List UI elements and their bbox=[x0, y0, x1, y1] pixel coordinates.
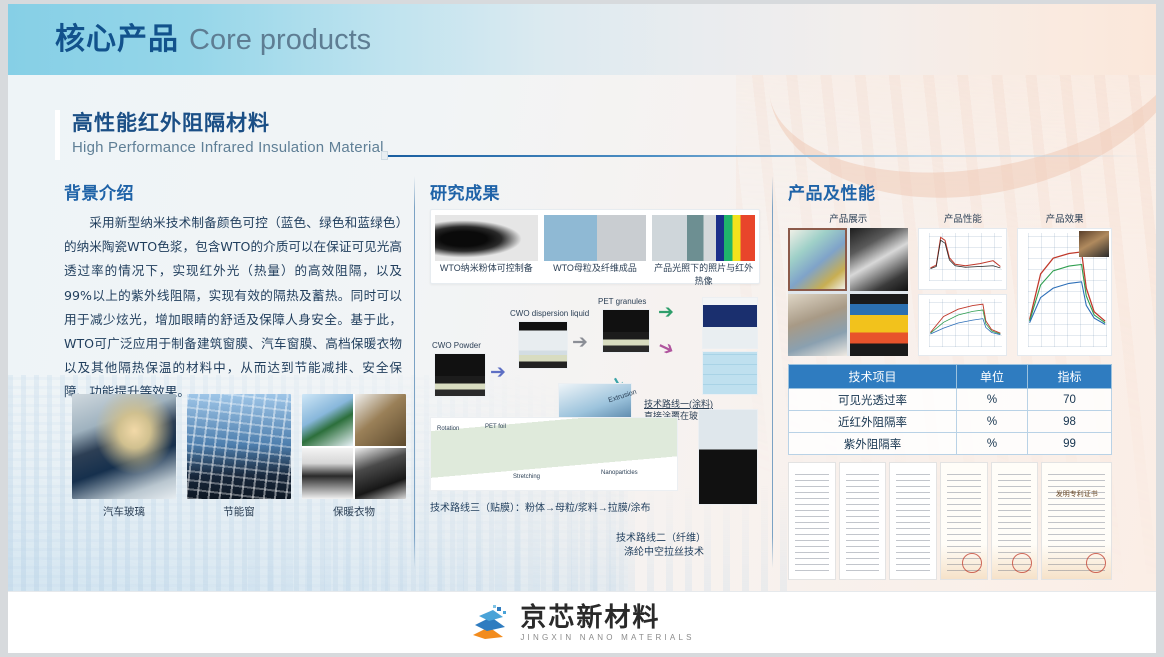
table-cell-unit: % bbox=[956, 411, 1027, 433]
table-header-row: 技术项目 单位 指标 bbox=[789, 365, 1112, 389]
certificate-seal-icon bbox=[1086, 553, 1106, 573]
company-name-cn: 京芯新材料 bbox=[520, 604, 694, 630]
gallery-caption: 节能窗 bbox=[187, 504, 291, 519]
section-title-cn: 高性能红外阻隔材料 bbox=[72, 107, 270, 137]
table-cell-value: 99 bbox=[1028, 433, 1112, 455]
research-photo-caption: WTO纳米粉体可控制备 bbox=[435, 261, 538, 274]
table-row: 可见光透过率 % 70 bbox=[789, 389, 1112, 411]
gallery-item: 汽车玻璃 bbox=[72, 394, 176, 519]
photo-jacket bbox=[355, 394, 406, 446]
slide-root: 核心产品Core products 高性能红外阻隔材料 High Perform… bbox=[8, 4, 1156, 653]
table-row: 近红外阻隔率 % 98 bbox=[789, 411, 1112, 433]
column-research-results: 研究成果 WTO纳米粉体可控制备 WTO母粒及纤维成品 产品光照下的照片与红外热… bbox=[430, 179, 760, 211]
subsection-title-performance: 产品性能 bbox=[918, 211, 1007, 225]
photo-gloves bbox=[355, 448, 406, 500]
company-name-en: JINGXIN NANO MATERIALS bbox=[520, 633, 694, 642]
chart-temperature-curve bbox=[918, 294, 1007, 356]
table-cell-value: 70 bbox=[1028, 389, 1112, 411]
subsection-title-effect: 产品效果 bbox=[1017, 211, 1112, 225]
photo-pet-granules bbox=[602, 309, 650, 353]
photo-coated-glass-tiles bbox=[702, 351, 758, 395]
photo-cwo-powder bbox=[434, 353, 486, 397]
flow-label-dispersion: CWO dispersion liquid bbox=[510, 309, 589, 318]
table-header-value: 指标 bbox=[1028, 365, 1112, 389]
certificate-patent bbox=[991, 462, 1039, 580]
route2-label-line1: 技术路线二（纤维） bbox=[616, 529, 706, 544]
photo-automotive-glass bbox=[72, 394, 176, 499]
product-subsections: 产品展示 产品性能 bbox=[788, 211, 1112, 356]
gallery-item: 保暖衣物 bbox=[302, 394, 406, 519]
photo-test-setup bbox=[788, 294, 847, 357]
flow-label-rotation: Rotation bbox=[437, 426, 459, 432]
table-cell-item: 可见光透过率 bbox=[789, 389, 957, 411]
table-row: 紫外阻隔率 % 99 bbox=[789, 433, 1112, 455]
photo-thermal-camera bbox=[850, 294, 909, 357]
flow-arrow-green: ➔ bbox=[658, 303, 674, 322]
flow-label-cwo-powder: CWO Powder bbox=[432, 341, 481, 350]
table-cell-item: 近红外阻隔率 bbox=[789, 411, 957, 433]
certificate-document bbox=[889, 462, 937, 580]
company-logo-icon bbox=[469, 605, 511, 641]
route3-block: Rotation PET foil Stretching Nanoparticl… bbox=[430, 417, 698, 509]
route2-label-line2: 涤纶中空拉丝技术 bbox=[624, 543, 704, 558]
research-photo-row: WTO纳米粉体可控制备 WTO母粒及纤维成品 产品光照下的照片与红外热像 bbox=[435, 215, 755, 287]
research-photo-caption: 产品光照下的照片与红外热像 bbox=[652, 261, 755, 287]
table-header-unit: 单位 bbox=[956, 365, 1027, 389]
flow-label-stretching: Stretching bbox=[513, 474, 540, 480]
research-photo-card: WTO纳米粉体可控制备 WTO母粒及纤维成品 产品光照下的照片与红外热像 bbox=[430, 209, 760, 284]
footer: 京芯新材料 JINGXIN NANO MATERIALS bbox=[8, 591, 1156, 653]
photo-hollow-fiber bbox=[698, 409, 758, 505]
section-rule-cap bbox=[381, 151, 388, 160]
table-cell-item: 紫外阻隔率 bbox=[789, 433, 957, 455]
photo-effect-inset bbox=[1079, 231, 1109, 257]
chart-product-effect bbox=[1017, 228, 1112, 356]
photo-powder-bags bbox=[850, 228, 909, 291]
page-title-cn: 核心产品 bbox=[55, 23, 179, 56]
photo-thermal-clothing bbox=[302, 394, 406, 499]
certificate-patent: 发明专利证书 bbox=[1041, 462, 1112, 580]
table-cell-unit: % bbox=[956, 389, 1027, 411]
left-column-heading: 背景介绍 bbox=[64, 179, 402, 204]
photo-cwo-dispersion bbox=[518, 321, 568, 369]
table-header-item: 技术项目 bbox=[789, 365, 957, 389]
company-name-block: 京芯新材料 JINGXIN NANO MATERIALS bbox=[520, 604, 694, 642]
background-paragraph: 采用新型纳米技术制备颜色可控（蓝色、绿色和蓝绿色）的纳米陶瓷WTO色浆，包含WT… bbox=[64, 211, 402, 404]
column-divider-left bbox=[414, 176, 415, 568]
photo-film-stretching-line: Rotation PET foil Stretching Nanoparticl… bbox=[430, 417, 678, 491]
subsection-title-display: 产品展示 bbox=[788, 211, 908, 225]
product-display-block: 产品展示 bbox=[788, 211, 908, 356]
photo-leg-warmers bbox=[302, 448, 353, 500]
flow-label-pet-granules: PET granules bbox=[598, 297, 646, 306]
column-product-performance: 产品及性能 产品展示 产品性能 bbox=[788, 179, 1112, 580]
photo-skier bbox=[302, 394, 353, 446]
photo-wto-nano-powder bbox=[435, 215, 538, 261]
certificate-document bbox=[839, 462, 887, 580]
certificate-document bbox=[788, 462, 836, 580]
certificate-patent bbox=[940, 462, 988, 580]
research-photo-item: WTO纳米粉体可控制备 bbox=[435, 215, 538, 287]
product-effect-block: 产品效果 bbox=[1017, 211, 1112, 356]
photo-product-display bbox=[788, 228, 908, 356]
section-rule bbox=[388, 155, 1148, 157]
certificate-text-lines bbox=[896, 473, 930, 571]
certificate-text-lines bbox=[795, 473, 829, 571]
middle-column-heading: 研究成果 bbox=[430, 179, 760, 204]
route3-label: 技术路线三（贴膜）：粉体→母粒/浆料→拉膜/涂布 bbox=[430, 499, 651, 514]
certificate-seal-icon bbox=[962, 553, 982, 573]
gallery-caption: 汽车玻璃 bbox=[72, 504, 176, 519]
research-photo-item: WTO母粒及纤维成品 bbox=[544, 215, 647, 287]
flow-label-nanoparticles: Nanoparticles bbox=[601, 470, 638, 476]
flow-arrow-1: ➔ bbox=[490, 363, 506, 382]
column-background: 背景介绍 采用新型纳米技术制备颜色可控（蓝色、绿色和蓝绿色）的纳米陶瓷WTO色浆… bbox=[64, 179, 402, 404]
left-gallery: 汽车玻璃 节能窗 保暖衣物 bbox=[72, 394, 406, 519]
photo-infrared-thermal-image bbox=[652, 215, 755, 261]
photo-tinted-glass-samples bbox=[788, 228, 847, 291]
photo-coating-vials bbox=[702, 297, 758, 349]
logo-glyph-icon bbox=[469, 605, 511, 641]
flow-arrow-magenta: ➔ bbox=[655, 337, 677, 361]
page-title-en: Core products bbox=[189, 24, 371, 56]
chart-insolation-curve bbox=[918, 228, 1007, 290]
right-column-heading: 产品及性能 bbox=[788, 179, 1112, 204]
column-divider-right bbox=[772, 176, 773, 568]
gallery-item: 节能窗 bbox=[187, 394, 291, 519]
research-photo-caption: WTO母粒及纤维成品 bbox=[544, 261, 647, 274]
flow-label-pet-foil: PET foil bbox=[485, 424, 506, 430]
page-title: 核心产品Core products bbox=[55, 18, 371, 62]
certificates-row: 发明专利证书 bbox=[788, 462, 1112, 580]
gallery-caption: 保暖衣物 bbox=[302, 504, 406, 519]
section-accent-bar bbox=[55, 110, 60, 160]
spec-table: 技术项目 单位 指标 可见光透过率 % 70 近红外阻隔率 % 98 紫外阻隔率 bbox=[788, 364, 1112, 455]
product-performance-block: 产品性能 bbox=[918, 211, 1007, 356]
certificate-title: 发明专利证书 bbox=[1042, 489, 1111, 499]
table-cell-value: 98 bbox=[1028, 411, 1112, 433]
chart-curve-series bbox=[929, 233, 1002, 269]
certificate-text-lines bbox=[846, 473, 880, 571]
section-title-en: High Performance Infrared Insulation Mat… bbox=[72, 139, 384, 156]
research-photo-item: 产品光照下的照片与红外热像 bbox=[652, 215, 755, 287]
flow-arrow-2: ➔ bbox=[572, 333, 588, 352]
chart-curve-series bbox=[929, 299, 1002, 335]
photo-energy-saving-window bbox=[187, 394, 291, 499]
table-cell-unit: % bbox=[956, 433, 1027, 455]
photo-wto-masterbatch-fiber bbox=[544, 215, 647, 261]
